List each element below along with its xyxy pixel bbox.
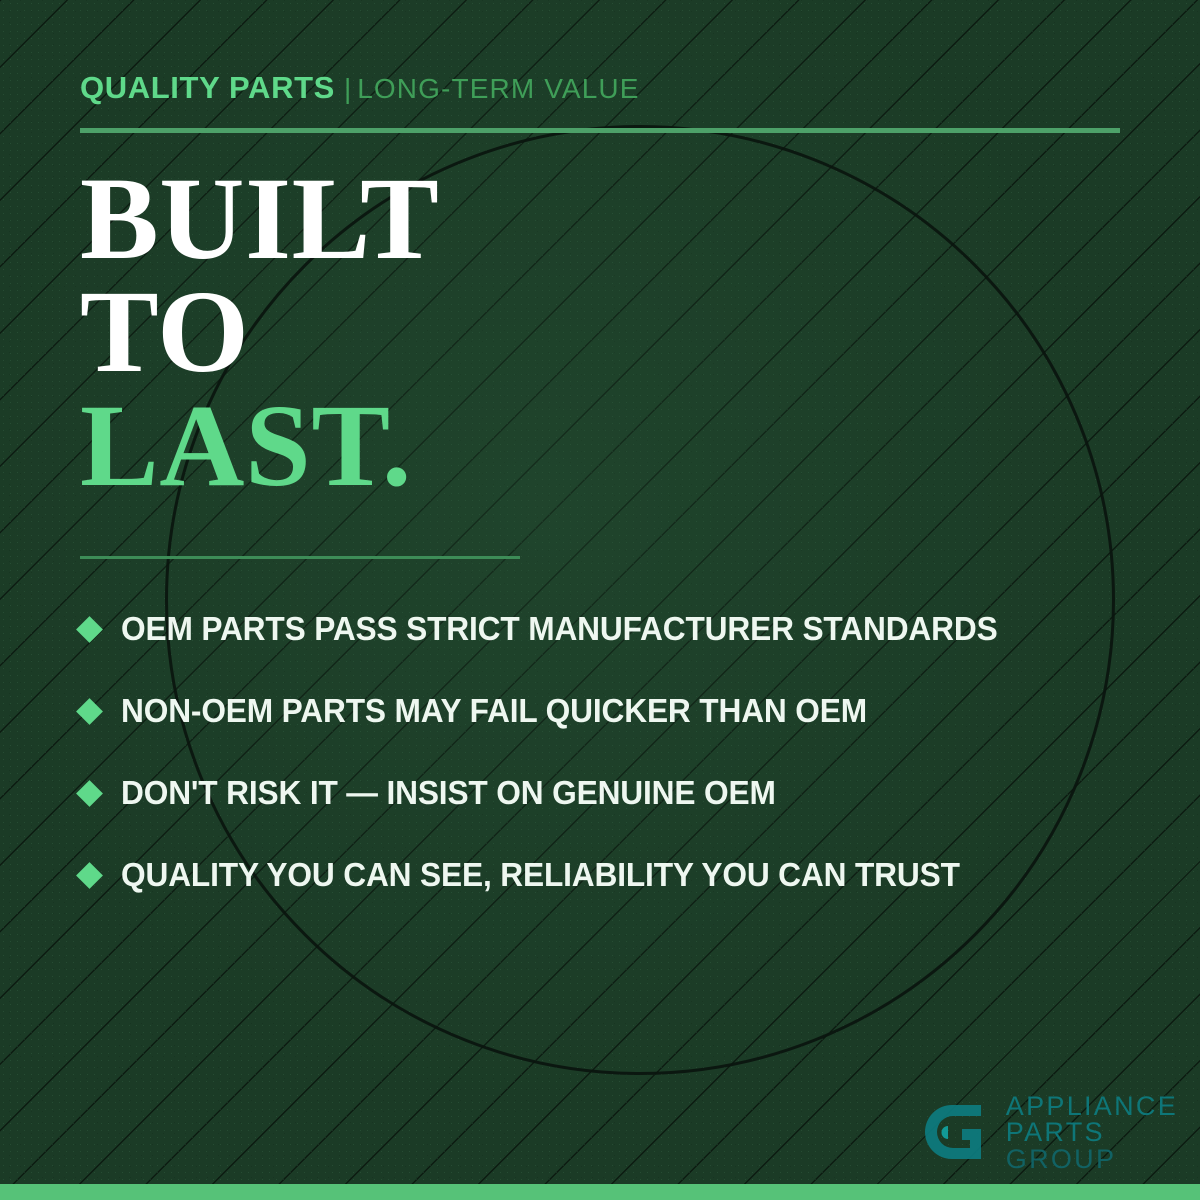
benefit-list: OEM PARTS PASS STRICT MANUFACTURER STAND… (80, 588, 1140, 916)
g-monogram-icon (918, 1095, 992, 1169)
list-item-label: QUALITY YOU CAN SEE, RELIABILITY YOU CAN… (121, 856, 960, 894)
page-title: BUILT TO LAST. (80, 162, 439, 502)
eyebrow-strong-text: QUALITY PARTS (80, 70, 335, 105)
list-item: NON-OEM PARTS MAY FAIL QUICKER THAN OEM (80, 670, 1140, 752)
eyebrow-header: QUALITY PARTS|LONG-TERM VALUE (80, 72, 640, 103)
list-item: DON'T RISK IT — INSIST ON GENUINE OEM (80, 752, 1140, 834)
diamond-bullet-icon (76, 780, 103, 807)
bottom-accent-bar (0, 1184, 1200, 1200)
headline-line-1: BUILT (80, 162, 439, 275)
content-column: QUALITY PARTS|LONG-TERM VALUE BUILT TO L… (80, 0, 1120, 1200)
brand-line-1: APPLIANCE (1006, 1093, 1178, 1119)
diamond-bullet-icon (76, 616, 103, 643)
eyebrow-light-text: LONG-TERM VALUE (357, 73, 639, 104)
headline-line-2: TO (80, 275, 439, 388)
headline-divider-rule (80, 556, 520, 559)
list-item: QUALITY YOU CAN SEE, RELIABILITY YOU CAN… (80, 834, 1140, 916)
list-item: OEM PARTS PASS STRICT MANUFACTURER STAND… (80, 588, 1140, 670)
header-divider-rule (80, 128, 1120, 133)
list-item-label: OEM PARTS PASS STRICT MANUFACTURER STAND… (121, 610, 998, 648)
headline-line-3: LAST. (80, 389, 439, 502)
brand-line-2: PARTS (1006, 1119, 1178, 1145)
list-item-label: DON'T RISK IT — INSIST ON GENUINE OEM (121, 774, 776, 812)
list-item-label: NON-OEM PARTS MAY FAIL QUICKER THAN OEM (121, 692, 867, 730)
diamond-bullet-icon (76, 862, 103, 889)
brand-logo: APPLIANCE PARTS GROUP (918, 1093, 1178, 1172)
diamond-bullet-icon (76, 698, 103, 725)
brand-logo-wordmark: APPLIANCE PARTS GROUP (1006, 1093, 1178, 1172)
poster-canvas: QUALITY PARTS|LONG-TERM VALUE BUILT TO L… (0, 0, 1200, 1200)
brand-line-3: GROUP (1006, 1146, 1178, 1172)
eyebrow-separator: | (344, 73, 351, 104)
